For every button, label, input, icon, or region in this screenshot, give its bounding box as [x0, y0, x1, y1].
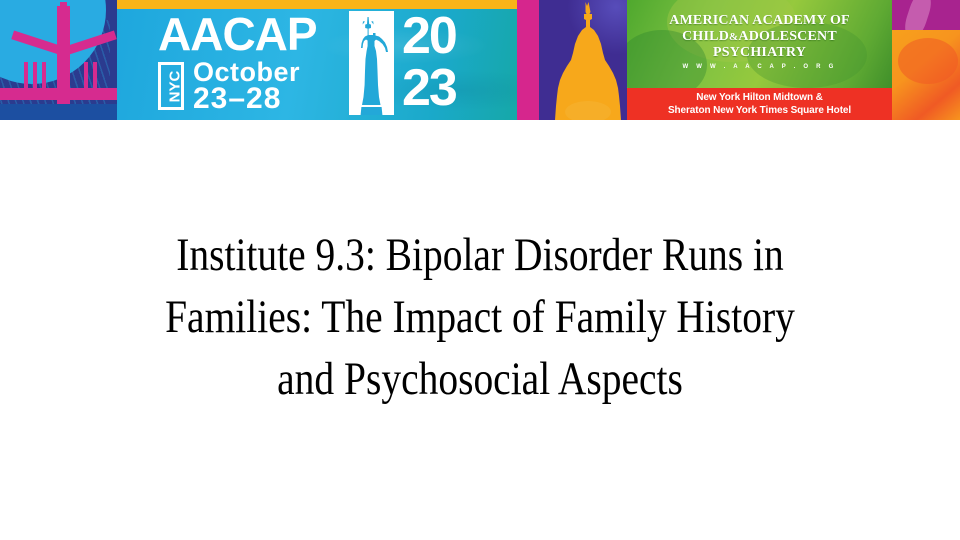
logo-line-3: PSYCHIATRY	[627, 45, 892, 61]
right-magenta-block	[892, 0, 960, 30]
conference-year-first-half: 20	[402, 10, 456, 62]
aacap-website-url: W W W . A A C A P . O R G	[627, 64, 892, 70]
magenta-brush-stroke	[901, 0, 934, 30]
presentation-slide: AACAP NYC October 23–28 20 23	[0, 0, 960, 540]
logo-line-2-adolescent: ADOLESCENT	[738, 29, 836, 44]
aacap-logo-panel: AMERICAN ACADEMY OF CHILD&ADOLESCENT PSY…	[627, 0, 892, 88]
title-line-3: and Psychosocial Aspects	[102, 348, 858, 410]
nyc-badge: NYC	[158, 62, 184, 110]
statue-of-liberty-icon	[349, 11, 394, 115]
aacap-acronym: AACAP	[158, 11, 317, 57]
logo-line-2: CHILD&ADOLESCENT	[627, 29, 892, 45]
bridge-suspender-icon	[93, 62, 97, 89]
venue-line-1: New York Hilton Midtown &	[627, 91, 892, 104]
statue-of-liberty-glyph	[349, 11, 394, 115]
venue-band: New York Hilton Midtown & Sheraton New Y…	[627, 88, 892, 120]
nyc-label: NYC	[168, 66, 183, 108]
orange-texture-blob	[898, 38, 958, 84]
logo-line-1: AMERICAN ACADEMY OF	[627, 13, 892, 29]
ampersand-glyph: &	[729, 31, 738, 43]
title-line-2: Families: The Impact of Family History	[102, 286, 858, 348]
venue-line-2: Sheraton New York Times Square Hotel	[627, 104, 892, 117]
slide-title: Institute 9.3: Bipolar Disorder Runs in …	[102, 224, 858, 410]
conference-year-second-half: 23	[402, 62, 456, 114]
bridge-suspender-icon	[24, 62, 28, 89]
suspension-bridge-icon	[57, 6, 70, 120]
title-line-1: Institute 9.3: Bipolar Disorder Runs in	[102, 224, 858, 286]
logo-line-2-child: CHILD	[682, 29, 729, 44]
bridge-suspender-icon	[84, 62, 88, 89]
bridge-suspender-icon	[42, 62, 46, 89]
water-band-shape	[0, 104, 117, 120]
bridge-suspender-icon	[33, 62, 37, 89]
capitol-dome-icon	[549, 0, 627, 120]
bridge-panel	[0, 0, 117, 120]
conference-info-panel: AACAP NYC October 23–28 20 23	[117, 0, 517, 120]
bridge-deck-shape	[0, 88, 117, 100]
dome-panel	[539, 0, 627, 120]
magenta-divider-strip	[517, 0, 539, 120]
conference-banner: AACAP NYC October 23–28 20 23	[0, 0, 960, 120]
conference-dates: 23–28	[193, 84, 281, 114]
right-orange-block	[892, 30, 960, 120]
